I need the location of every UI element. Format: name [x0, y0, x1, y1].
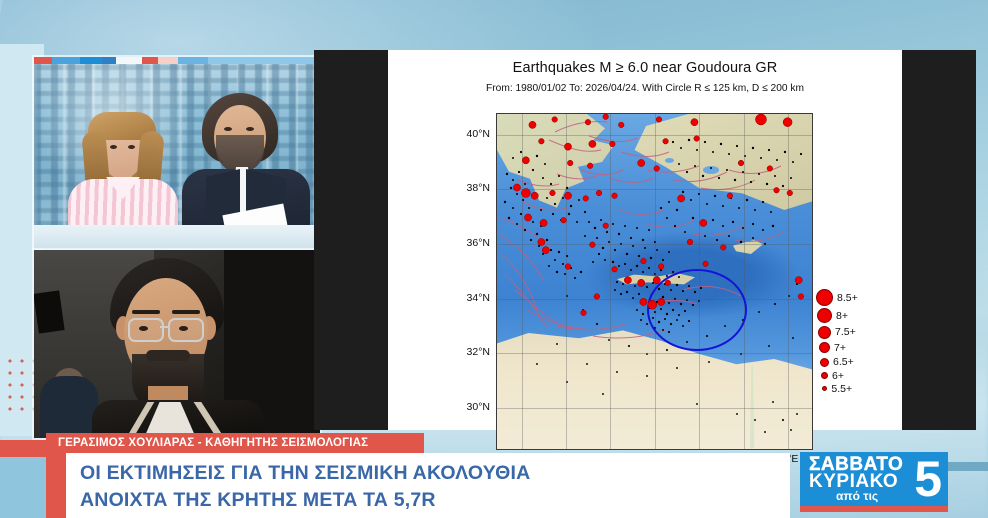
earthquake-marker [583, 196, 589, 202]
legend-marker [819, 342, 830, 353]
chart-subtitle: From: 1980/01/02 To: 2026/04/24. With Ci… [388, 83, 902, 94]
earthquake-marker [663, 138, 669, 144]
earthquake-marker [783, 118, 792, 127]
legend-item: 6+ [816, 369, 902, 382]
earthquake-marker [641, 258, 647, 264]
earthquake-marker [738, 160, 744, 166]
legend-label: 7.5+ [835, 326, 856, 338]
magnitude-legend: 8.5+ 8+ 7.5+ 7+ 6.5+ 6+ [816, 288, 902, 395]
guest-name-text: ΓΕΡΑΣΙΜΟΣ ΧΟΥΛΙΑΡΑΣ - ΚΑΘΗΓΗΤΗΣ ΣΕΙΣΜΟΛΟ… [58, 437, 368, 449]
expert-eye-left [139, 326, 148, 331]
legend-label: 8+ [836, 310, 848, 322]
logo-line-3: από τις [836, 489, 878, 503]
legend-marker [818, 326, 831, 339]
expert-brow-right [172, 310, 200, 314]
earthquake-marker [720, 245, 726, 251]
earthquake-marker [648, 300, 657, 309]
news-desk [34, 225, 320, 249]
earthquake-marker [638, 279, 645, 286]
earthquake-marker [529, 121, 536, 128]
earthquake-marker [691, 119, 698, 126]
legend-label: 8.5+ [837, 292, 858, 304]
earthquake-marker [603, 114, 609, 120]
earthquake-marker [590, 242, 596, 248]
blue-block-decoration [0, 457, 46, 518]
earthquake-marker [540, 219, 547, 226]
earthquake-marker [767, 166, 773, 172]
legend-label: 7+ [834, 342, 846, 354]
earthquake-marker [795, 277, 802, 284]
earthquake-marker [603, 223, 609, 229]
legend-item: 5.5+ [816, 382, 902, 395]
earthquake-marker [564, 192, 571, 199]
legend-item: 8.5+ [816, 288, 902, 307]
earthquake-marker [513, 184, 520, 191]
earthquake-marker [550, 190, 556, 196]
expert-eye-right [179, 326, 188, 331]
earthquake-marker [585, 119, 591, 125]
earthquake-marker [700, 219, 707, 226]
earthquake-marker [596, 190, 602, 196]
headline-line-2: ΑΝΟΙΧΤΑ ΤΗΣ ΚΡΗΤΗΣ ΜΕΤΑ ΤΑ 5,7R [80, 487, 790, 514]
expert-moustache [146, 350, 190, 361]
letterbox-bar-left [314, 50, 388, 430]
headline-line-1: ΟΙ ΕΚΤΙΜΗΣΕΙΣ ΓΙΑ ΤΗΝ ΣΕΙΣΜΙΚΗ ΑΚΟΛΟΥΘΙΑ [80, 460, 790, 487]
logo-number-5: 5 [914, 452, 942, 506]
legend-item: 7+ [816, 340, 902, 355]
earthquake-marker [787, 190, 793, 196]
earthquake-marker [612, 266, 618, 272]
guest-name-badge: ΓΕΡΑΣΙΜΟΣ ΧΟΥΛΙΑΡΑΣ - ΚΑΘΗΓΗΤΗΣ ΣΕΙΣΜΟΛΟ… [46, 433, 424, 453]
earthquake-marker [581, 310, 587, 316]
legend-label: 5.5+ [831, 383, 852, 395]
letterbox-bar-right [902, 50, 976, 430]
earthquake-marker [522, 157, 529, 164]
earthquake-marker [618, 122, 624, 128]
expert-brow-left [132, 310, 160, 314]
earthquake-marker [640, 298, 647, 305]
legend-item: 8+ [816, 307, 902, 324]
earthquake-marker [654, 166, 660, 172]
woman-eye-left [110, 145, 117, 149]
legend-item: 7.5+ [816, 324, 902, 340]
earthquake-marker [653, 277, 660, 284]
earthquake-marker [564, 143, 571, 150]
expert-video-tile [34, 250, 320, 438]
legend-marker [817, 308, 832, 323]
chart-title: Earthquakes M ≥ 6.0 near Goudoura GR [388, 60, 902, 76]
earthquake-marker [542, 247, 549, 254]
earthquake-marker [594, 294, 600, 300]
earthquake-marker [694, 136, 700, 142]
earthquake-marker [587, 163, 593, 169]
earthquake-marker [610, 141, 616, 147]
earthquake-marker [638, 159, 645, 166]
earthquake-marker [658, 298, 665, 305]
man-eye-left [224, 127, 232, 131]
legend-item: 6.5+ [816, 355, 902, 369]
dot-grid-decoration [4, 355, 38, 417]
earthquake-marker [687, 239, 693, 245]
earthquake-marker [524, 214, 531, 221]
earthquake-marker [539, 138, 545, 144]
earthquake-marker [665, 280, 671, 286]
legend-marker [816, 289, 833, 306]
earthquake-marker [727, 193, 733, 199]
earthquake-marker [538, 238, 545, 245]
earthquake-marker [531, 192, 538, 199]
expert-glasses-bridge [160, 326, 170, 328]
headline-banner: ΟΙ ΕΚΤΙΜΗΣΕΙΣ ΓΙΑ ΤΗΝ ΣΕΙΣΜΙΚΗ ΑΚΟΛΟΥΘΙΑ… [62, 453, 790, 518]
earthquake-marker [561, 217, 567, 223]
studio-color-strip [34, 57, 320, 64]
earthquake-marker [565, 264, 571, 270]
earthquake-marker [521, 188, 530, 197]
logo-red-underline [800, 506, 948, 512]
bystander-body [40, 376, 98, 438]
earthquake-marker [755, 114, 766, 125]
earthquake-marker [658, 264, 664, 270]
legend-marker [822, 386, 827, 391]
legend-label: 6.5+ [833, 356, 854, 368]
man-eye-right [246, 127, 254, 131]
earthquake-marker [678, 195, 685, 202]
channel-show-logo: ΣΑΒΒΑΤΟ ΚΥΡΙΑΚΟ από τις 5 [800, 452, 948, 506]
earthquake-marker [552, 117, 558, 123]
earthquake-map-figure: Earthquakes M ≥ 6.0 near Goudoura GR Fro… [388, 50, 902, 430]
earthquake-marker [703, 261, 709, 267]
map-plot-area [496, 113, 813, 450]
broadcast-screen: Earthquakes M ≥ 6.0 near Goudoura GR Fro… [0, 0, 988, 518]
wall-speaker [34, 290, 65, 333]
legend-label: 6+ [832, 370, 844, 382]
earthquake-marker [567, 160, 573, 166]
earthquake-marker [589, 140, 596, 147]
logo-side-bar [948, 462, 988, 471]
earthquake-marker [798, 294, 804, 300]
legend-marker [820, 358, 829, 367]
woman-eye-right [128, 145, 135, 149]
earthquake-markers-layer [497, 114, 812, 449]
earthquake-marker [612, 193, 618, 199]
earthquake-marker [624, 277, 631, 284]
legend-marker [821, 372, 828, 379]
earthquake-marker [774, 187, 780, 193]
anchors-video-tile [34, 57, 320, 249]
earthquake-marker [656, 117, 662, 123]
